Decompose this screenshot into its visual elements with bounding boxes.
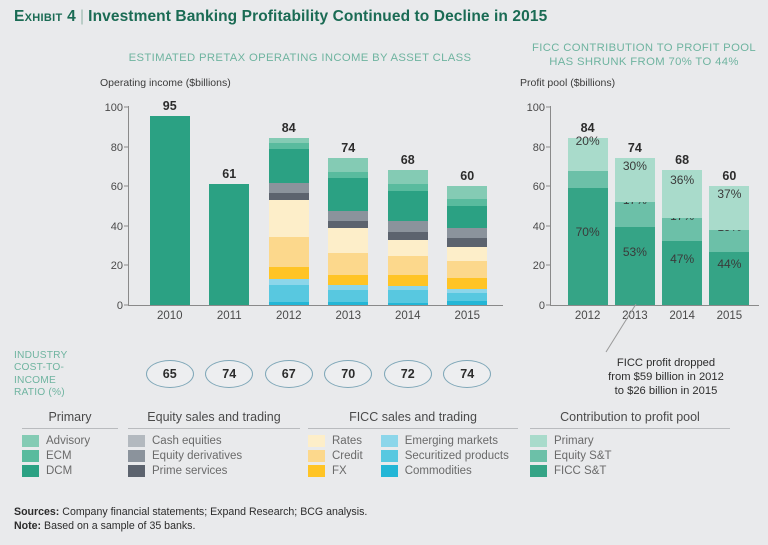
y-axis-tick-label: 100: [527, 102, 545, 114]
legend-item-label: Credit: [332, 450, 363, 462]
legend-columns: RatesCreditFXEmerging marketsSecuritized…: [308, 429, 518, 477]
x-axis-category-label: 2012: [255, 310, 323, 322]
legend-group-primary: PrimaryAdvisoryECMDCM: [22, 410, 118, 477]
right-chart-heading: FICC CONTRIBUTION TO PROFIT POOL HAS SHR…: [520, 42, 768, 69]
x-axis-category-label: 2011: [195, 310, 263, 322]
legend-swatch: [128, 465, 145, 477]
y-axis-tick-label: 60: [533, 181, 545, 193]
bar-segment[interactable]: [447, 247, 487, 261]
cost-to-income-ratio-badge: 72: [384, 360, 432, 388]
segment-percent-label: 53%: [615, 245, 655, 259]
y-axis-tick-mark: [546, 146, 550, 147]
stacked-bar[interactable]: 70%10%20%: [568, 138, 608, 304]
y-axis-tick-mark: [124, 186, 128, 187]
bar-segment[interactable]: [269, 285, 309, 302]
left-x-axis: [128, 305, 503, 307]
legend-group-equity-sales-and-trading: Equity sales and tradingCash equitiesEqu…: [128, 410, 300, 477]
bar-total-label: 84: [269, 121, 309, 135]
left-chart-heading: ESTIMATED PRETAX OPERATING INCOME BY ASS…: [100, 52, 500, 66]
legend-item-label: DCM: [46, 465, 72, 477]
segment-percent-label: 70%: [568, 225, 608, 239]
y-axis-tick-mark: [546, 186, 550, 187]
bar-segment[interactable]: [269, 237, 309, 267]
legend-item-label: FX: [332, 465, 347, 477]
segment-percent-label: 37%: [709, 187, 749, 201]
bar-segment[interactable]: [328, 178, 368, 211]
legend-item[interactable]: DCM: [22, 465, 90, 477]
bar-total-label: 95: [150, 99, 190, 113]
bar-segment[interactable]: [328, 221, 368, 228]
legend-item-label: Equity derivatives: [152, 450, 242, 462]
bar-segment[interactable]: [328, 302, 368, 304]
stacked-bar[interactable]: 44%19%37%: [709, 186, 749, 305]
right-axis-unit: Profit pool ($billions): [520, 77, 615, 89]
footer-sources-label: Sources:: [14, 506, 59, 518]
legend-column: Cash equitiesEquity derivativesPrime ser…: [128, 435, 242, 477]
legend-item-label: FICC S&T: [554, 465, 606, 477]
title-separator: |: [76, 8, 88, 25]
y-axis-tick-label: 40: [111, 221, 123, 233]
bar-column[interactable]: 602015: [447, 105, 487, 305]
legend-title: Contribution to profit pool: [530, 410, 730, 429]
bar-segment[interactable]: [269, 279, 309, 285]
x-axis-category-label: 2010: [136, 310, 204, 322]
legend-item[interactable]: Commodities: [381, 465, 509, 477]
bar-column[interactable]: 612011: [209, 105, 249, 305]
bar-total-label: 60: [447, 169, 487, 183]
bar-column[interactable]: 952010: [150, 105, 190, 305]
exhibit-title-bar: Exhibit 4|Investment Banking Profitabili…: [14, 8, 754, 36]
y-axis-tick-mark: [546, 305, 550, 306]
legend-swatch: [22, 465, 39, 477]
legend-item[interactable]: Securitized products: [381, 450, 509, 462]
bar-column[interactable]: 682014: [388, 105, 428, 305]
bar-segment[interactable]: [269, 138, 309, 143]
cost-to-income-ratio-badge: 65: [146, 360, 194, 388]
legend-swatch: [381, 450, 398, 462]
cost-to-income-ratio-badge: 74: [443, 360, 491, 388]
bar-column[interactable]: 53%17%30%742013: [615, 105, 655, 305]
legend-swatch: [530, 435, 547, 447]
legend-item[interactable]: Advisory: [22, 435, 90, 447]
legend-item-label: Prime services: [152, 465, 227, 477]
y-axis-tick-label: 80: [533, 142, 545, 154]
y-axis-tick-label: 60: [111, 181, 123, 193]
stacked-bar[interactable]: [269, 138, 309, 304]
legend-item[interactable]: Cash equities: [128, 435, 242, 447]
legend-swatch: [308, 465, 325, 477]
legend-swatch: [308, 435, 325, 447]
y-axis-tick-mark: [124, 305, 128, 306]
legend-columns: Cash equitiesEquity derivativesPrime ser…: [128, 429, 300, 477]
legend-item-label: Primary: [554, 435, 594, 447]
legend-column: PrimaryEquity S&TFICC S&T: [530, 435, 612, 477]
y-axis-tick-label: 40: [533, 221, 545, 233]
legend-group-contribution-to-profit-pool: Contribution to profit poolPrimaryEquity…: [530, 410, 730, 477]
bar-segment[interactable]: [568, 171, 608, 188]
ratio-label-line3: RATIO (%): [14, 387, 98, 399]
stacked-bar[interactable]: 53%17%30%: [615, 158, 655, 305]
left-chart-plot: 0204060801009520106120118420127420136820…: [128, 106, 503, 306]
footer-note-text: Based on a sample of 35 banks.: [44, 520, 195, 532]
stacked-bar[interactable]: 47%17%36%: [662, 170, 702, 305]
page-title: Exhibit 4|Investment Banking Profitabili…: [14, 8, 754, 26]
bar-segment[interactable]: [388, 286, 428, 290]
bar-segment[interactable]: [209, 184, 249, 305]
bar-total-label: 60: [709, 169, 749, 183]
legend-item-label: Emerging markets: [405, 435, 498, 447]
bar-segment[interactable]: [388, 275, 428, 286]
legend-swatch: [530, 465, 547, 477]
bar-segment[interactable]: [269, 183, 309, 193]
bar-segment[interactable]: [662, 241, 702, 304]
bar-segment[interactable]: [388, 170, 428, 184]
cost-to-income-ratio-badge: 70: [324, 360, 372, 388]
bar-segment[interactable]: [388, 184, 428, 191]
right-chart: 02040608010070%10%20%84201253%17%30%7420…: [520, 100, 763, 322]
bar-segment[interactable]: [388, 221, 428, 232]
bar-segment[interactable]: [328, 290, 368, 302]
bar-segment[interactable]: [447, 293, 487, 301]
legend-title: Primary: [22, 410, 118, 429]
legend-item[interactable]: Rates: [308, 435, 363, 447]
stacked-bar[interactable]: [209, 184, 249, 305]
bar-segment[interactable]: [447, 301, 487, 305]
cost-to-income-ratio-label: INDUSTRY COST-TO-INCOME RATIO (%): [14, 350, 98, 400]
legend-columns: PrimaryEquity S&TFICC S&T: [530, 429, 730, 477]
bar-segment[interactable]: [269, 149, 309, 183]
footer-notes: Sources: Company financial statements; E…: [14, 506, 367, 533]
bar-column[interactable]: 44%19%37%602015: [709, 105, 749, 305]
footer-sources-text: Company financial statements; Expand Res…: [62, 506, 367, 518]
ficc-annotation: FICC profit dropped from $59 billion in …: [566, 356, 766, 398]
legend-column: Emerging marketsSecuritized productsComm…: [381, 435, 509, 477]
bar-segment[interactable]: [328, 285, 368, 290]
legend-item-label: Cash equities: [152, 435, 222, 447]
segment-percent-label: 20%: [568, 134, 608, 148]
legend-item[interactable]: Credit: [308, 450, 363, 462]
footer-note-label: Note:: [14, 520, 41, 532]
y-axis-tick-mark: [546, 107, 550, 108]
bar-total-label: 61: [209, 167, 249, 181]
legend-item[interactable]: Emerging markets: [381, 435, 509, 447]
legend-item[interactable]: Equity derivatives: [128, 450, 242, 462]
footer-sources: Sources: Company financial statements; E…: [14, 506, 367, 520]
y-axis-tick-mark: [124, 146, 128, 147]
legend-column: AdvisoryECMDCM: [22, 435, 90, 477]
legend-title: FICC sales and trading: [308, 410, 518, 429]
legend-swatch: [22, 450, 39, 462]
y-axis-tick-mark: [546, 225, 550, 226]
x-axis-category-label: 2015: [695, 310, 763, 322]
bar-segment[interactable]: [328, 172, 368, 178]
legend-item[interactable]: ECM: [22, 450, 90, 462]
bar-segment[interactable]: [269, 302, 309, 305]
legend-item[interactable]: Equity S&T: [530, 450, 612, 462]
legend-swatch: [22, 435, 39, 447]
bar-segment[interactable]: [447, 289, 487, 293]
bar-column[interactable]: 47%17%36%682014: [662, 105, 702, 305]
bar-segment[interactable]: [269, 200, 309, 238]
legend-swatch: [308, 450, 325, 462]
bar-segment[interactable]: [447, 228, 487, 238]
footer-note: Note: Based on a sample of 35 banks.: [14, 520, 367, 534]
stacked-bar[interactable]: [447, 186, 487, 305]
bar-segment[interactable]: [615, 227, 655, 305]
legend-column: RatesCreditFX: [308, 435, 363, 477]
legend-item[interactable]: FICC S&T: [530, 465, 612, 477]
annotation-line-3: to $26 billion in 2015: [566, 384, 766, 398]
ratio-label-line1: INDUSTRY: [14, 350, 98, 362]
bar-segment[interactable]: [388, 232, 428, 240]
x-axis-category-label: 2013: [314, 310, 382, 322]
segment-percent-label: 36%: [662, 173, 702, 187]
bar-segment[interactable]: [328, 158, 368, 172]
legend-item-label: Securitized products: [405, 450, 509, 462]
legend-item-label: Equity S&T: [554, 450, 612, 462]
stacked-bar[interactable]: [150, 116, 190, 304]
bar-segment[interactable]: [568, 188, 608, 304]
annotation-line-1: FICC profit dropped: [566, 356, 766, 370]
bar-segment[interactable]: [447, 278, 487, 289]
x-axis-category-label: 2014: [374, 310, 442, 322]
y-axis-tick-mark: [546, 265, 550, 266]
cost-to-income-ratio-badge: 74: [205, 360, 253, 388]
bar-segment[interactable]: [269, 143, 309, 149]
bar-segment[interactable]: [269, 267, 309, 279]
legend-swatch: [381, 465, 398, 477]
bar-segment[interactable]: [388, 240, 428, 256]
x-axis-category-label: 2015: [433, 310, 501, 322]
y-axis-tick-label: 0: [117, 300, 123, 312]
legend-group-ficc-sales-and-trading: FICC sales and tradingRatesCreditFXEmerg…: [308, 410, 518, 477]
ratio-label-line2: COST-TO-INCOME: [14, 362, 98, 387]
bar-segment[interactable]: [388, 191, 428, 221]
bar-segment[interactable]: [447, 199, 487, 206]
annotation-leader-line: [600, 304, 640, 356]
left-y-axis: [128, 106, 129, 306]
segment-percent-label: 44%: [709, 257, 749, 271]
left-chart: 0204060801009520106120118420127420136820…: [98, 100, 503, 322]
legend-swatch: [381, 435, 398, 447]
right-y-axis: [550, 106, 551, 306]
legend-item-label: Commodities: [405, 465, 472, 477]
bar-segment[interactable]: [447, 206, 487, 229]
y-axis-tick-label: 20: [111, 260, 123, 272]
right-chart-plot: 02040608010070%10%20%84201253%17%30%7420…: [550, 106, 759, 306]
right-chart-heading-line1: FICC CONTRIBUTION TO PROFIT POOL: [520, 42, 768, 56]
exhibit-number: Exhibit 4: [14, 8, 76, 25]
bar-segment[interactable]: [328, 275, 368, 285]
bar-segment[interactable]: [447, 261, 487, 278]
bar-segment[interactable]: [328, 253, 368, 276]
y-axis-tick-label: 100: [105, 102, 123, 114]
legend-swatch: [128, 435, 145, 447]
legend-item-label: ECM: [46, 450, 72, 462]
cost-to-income-ratio-badge: 67: [265, 360, 313, 388]
bar-segment[interactable]: [388, 303, 428, 305]
bar-segment[interactable]: [328, 228, 368, 253]
exhibit-root: Exhibit 4|Investment Banking Profitabili…: [0, 0, 768, 545]
bar-column[interactable]: 70%10%20%842012: [568, 105, 608, 305]
y-axis-tick-mark: [124, 225, 128, 226]
legend-item[interactable]: FX: [308, 465, 363, 477]
y-axis-tick-label: 20: [533, 260, 545, 272]
stacked-bar[interactable]: [388, 170, 428, 305]
title-main: Investment Banking Profitability Continu…: [88, 8, 547, 25]
legend-item[interactable]: Prime services: [128, 465, 242, 477]
stacked-bar[interactable]: [328, 158, 368, 305]
y-axis-tick-label: 80: [111, 142, 123, 154]
bar-segment[interactable]: [447, 186, 487, 199]
y-axis-tick-mark: [124, 265, 128, 266]
y-axis-tick-label: 0: [539, 300, 545, 312]
bar-segment[interactable]: [388, 290, 428, 302]
right-chart-heading-line2: HAS SHRUNK FROM 70% TO 44%: [520, 56, 768, 70]
bar-segment[interactable]: [328, 211, 368, 221]
legend-columns: AdvisoryECMDCM: [22, 429, 118, 477]
annotation-line-2: from $59 billion in 2012: [566, 370, 766, 384]
bar-total-label: 68: [662, 153, 702, 167]
left-axis-unit: Operating income ($billions): [100, 77, 231, 89]
legend-swatch: [128, 450, 145, 462]
legend-item-label: Advisory: [46, 435, 90, 447]
legend-swatch: [530, 450, 547, 462]
bar-total-label: 74: [328, 141, 368, 155]
segment-percent-label: 30%: [615, 159, 655, 173]
right-x-axis: [550, 305, 759, 307]
bar-column[interactable]: 742013: [328, 105, 368, 305]
bar-total-label: 68: [388, 153, 428, 167]
legend-item[interactable]: Primary: [530, 435, 612, 447]
legend-title: Equity sales and trading: [128, 410, 300, 429]
y-axis-tick-mark: [124, 107, 128, 108]
bar-segment[interactable]: [269, 193, 309, 200]
bar-column[interactable]: 842012: [269, 105, 309, 305]
bar-segment[interactable]: [447, 238, 487, 247]
segment-percent-label: 47%: [662, 252, 702, 266]
bar-segment[interactable]: [388, 256, 428, 275]
bar-segment[interactable]: [150, 116, 190, 304]
legend-item-label: Rates: [332, 435, 362, 447]
bar-total-label: 84: [568, 121, 608, 135]
bar-total-label: 74: [615, 141, 655, 155]
